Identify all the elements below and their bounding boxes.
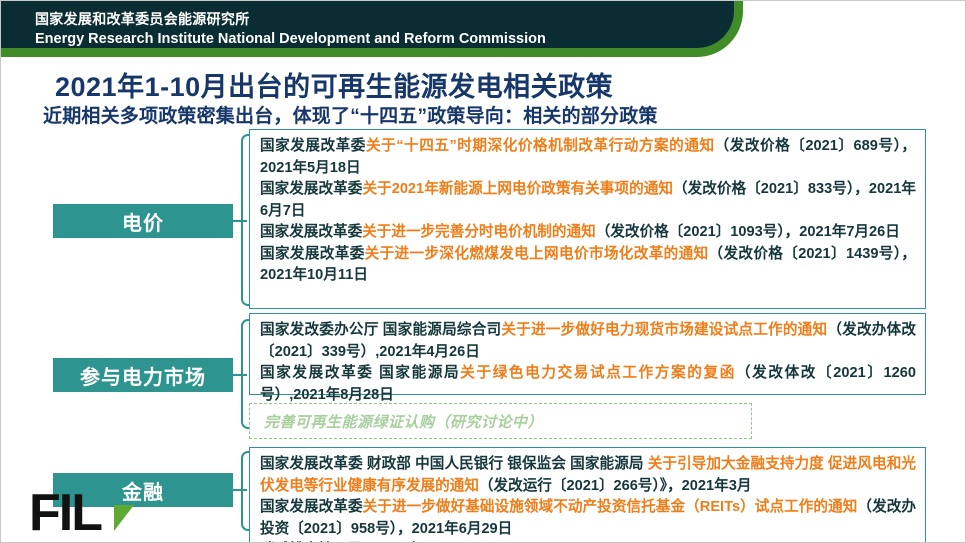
page-title: 2021年1-10月出台的可再生能源发电相关政策 [55,65,613,104]
policy-title-highlight: 关于绿色电力交易试点工作方案的复函 [460,365,736,381]
pending-policy-note: 完善可再生能源绿证认购（研究讨论中） [249,403,752,439]
policy-title-highlight: 关于进一步做好电力现货市场建设试点工作的通知 [501,322,827,338]
category-label-electricity-price[interactable]: 电价 [53,204,233,238]
category-label-power-market[interactable]: 参与电力市场 [53,358,233,392]
slide-canvas: 国家发展和改革委员会能源研究所 Energy Research Institut… [0,0,966,543]
policy-text: 国家发展改革委 [260,181,362,197]
header-text-group: 国家发展和改革委员会能源研究所 Energy Research Institut… [35,9,695,50]
policy-text: （发改价格〔2021〕1093号），2021年7月26日 [596,224,900,240]
institute-logo: FIL [29,487,159,543]
policy-title-highlight: 关于进一步深化燃煤发电上网电价市场化改革的通知 [365,246,709,262]
policy-box-power-market: 国家发改委办公厅 国家能源局综合司关于进一步做好电力现货市场建设试点工作的通知（… [249,313,926,395]
policy-text: 国家发展改革委 [260,246,365,262]
policy-title-highlight: 关于“十四五”时期深化价格机制改革行动方案的通知 [366,138,715,154]
policy-item: 国家发展改革委关于进一步深化燃煤发电上网电价市场化改革的通知（发改价格〔2021… [260,244,916,287]
policy-text: 国家发展改革委 财政部 中国人民银行 银保监会 国家能源局 [260,456,648,472]
pending-policy-text: 完善可再生能源绿证认购（研究讨论中） [264,411,543,432]
policy-item: 国家发展改革委关于“十四五”时期深化价格机制改革行动方案的通知（发改价格〔202… [260,136,916,179]
policy-item: 国家发展改革委 财政部 中国人民银行 银保监会 国家能源局 关于引导加大金融支持… [260,454,916,497]
policy-item: 国家发改委办公厅 国家能源局综合司关于进一步做好电力现货市场建设试点工作的通知（… [260,320,916,363]
policy-item: 国家发展改革委关于进一步做好基础设施领域不动产投资信托基金（REITs）试点工作… [260,497,916,540]
policy-item: 国家发展改革委关于2021年新能源上网电价政策有关事项的通知（发改价格〔2021… [260,179,916,222]
logo-text: FIL [29,487,101,543]
policy-text: （发改运行〔2021〕266号）》，2021年3月 [479,478,752,494]
policy-text: 国家发展改革委 国家能源局 [260,365,460,381]
policy-item: 国家发展改革委关于进一步完善分时电价机制的通知（发改价格〔2021〕1093号）… [260,222,916,244]
policy-text: 国家发展改革委 [260,224,362,240]
policy-item: 国家发展改革委 国家能源局关于绿色电力交易试点工作方案的复函（发改体改〔2021… [260,363,916,406]
policy-box-finance: 国家发展改革委 财政部 中国人民银行 银保监会 国家能源局 关于引导加大金融支持… [249,447,926,543]
policy-box-electricity-price: 国家发展改革委关于“十四五”时期深化价格机制改革行动方案的通知（发改价格〔202… [249,129,926,309]
policy-text: 国家发展改革委 [260,138,366,154]
organization-name-english: Energy Research Institute National Devel… [35,29,695,50]
page-subtitle: 近期相关多项政策密集出台，体现了“十四五”政策导向：相关的部分政策 [43,101,658,128]
policy-text: 国家发展改革委 [260,499,363,515]
policy-title-highlight: 关于2021年新能源上网电价政策有关事项的通知 [362,181,673,197]
policy-title-highlight: 关于进一步做好基础设施领域不动产投资信托基金（REITs）试点工作的通知 [363,499,858,515]
policy-title-highlight: 关于进一步完善分时电价机制的通知 [362,224,596,240]
policy-text: 国家发改委办公厅 国家能源局综合司 [260,322,501,338]
logo-triangle-icon [114,505,134,531]
organization-name-chinese: 国家发展和改革委员会能源研究所 [35,9,695,29]
